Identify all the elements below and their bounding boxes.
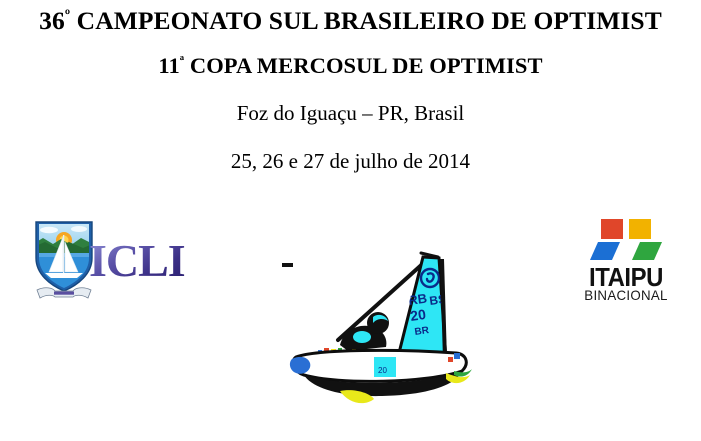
event-title-secondary-text: COPA MERCOSUL DE OPTIMIST [184,53,542,78]
svg-text:20: 20 [378,366,387,375]
event-dates: 25, 26 e 27 de julho de 2014 [0,151,701,172]
icli-logo: ICLI [33,220,173,305]
icli-wordmark: ICLI [89,238,185,284]
event-location: Foz do Iguaçu – PR, Brasil [0,103,701,124]
event-title-primary-text: CAMPEONATO SUL BRASILEIRO DE OPTIMIST [70,6,662,35]
svg-text:BR: BR [414,325,431,338]
icli-crest-icon [33,220,95,302]
event-title-secondary-number: 11 [158,53,179,78]
svg-text:RB: RB [407,291,428,308]
logo-row: ICLI RB BS 20 BR [0,205,701,441]
event-title-primary-number: 36 [39,6,65,35]
svg-text:20: 20 [409,306,427,324]
event-title-primary: 36º CAMPEONATO SUL BRASILEIRO DE OPTIMIS… [0,8,701,34]
itaipu-subtitle: BINACIONAL [571,288,681,302]
optimist-dinghy-illustration: RB BS 20 BR [278,245,488,430]
document-heading: 36º CAMPEONATO SUL BRASILEIRO DE OPTIMIS… [0,0,701,172]
itaipu-mark-icon [584,219,668,264]
itaipu-logo: ITAIPU BINACIONAL [568,219,684,305]
event-title-secondary: 11ª COPA MERCOSUL DE OPTIMIST [0,55,701,78]
